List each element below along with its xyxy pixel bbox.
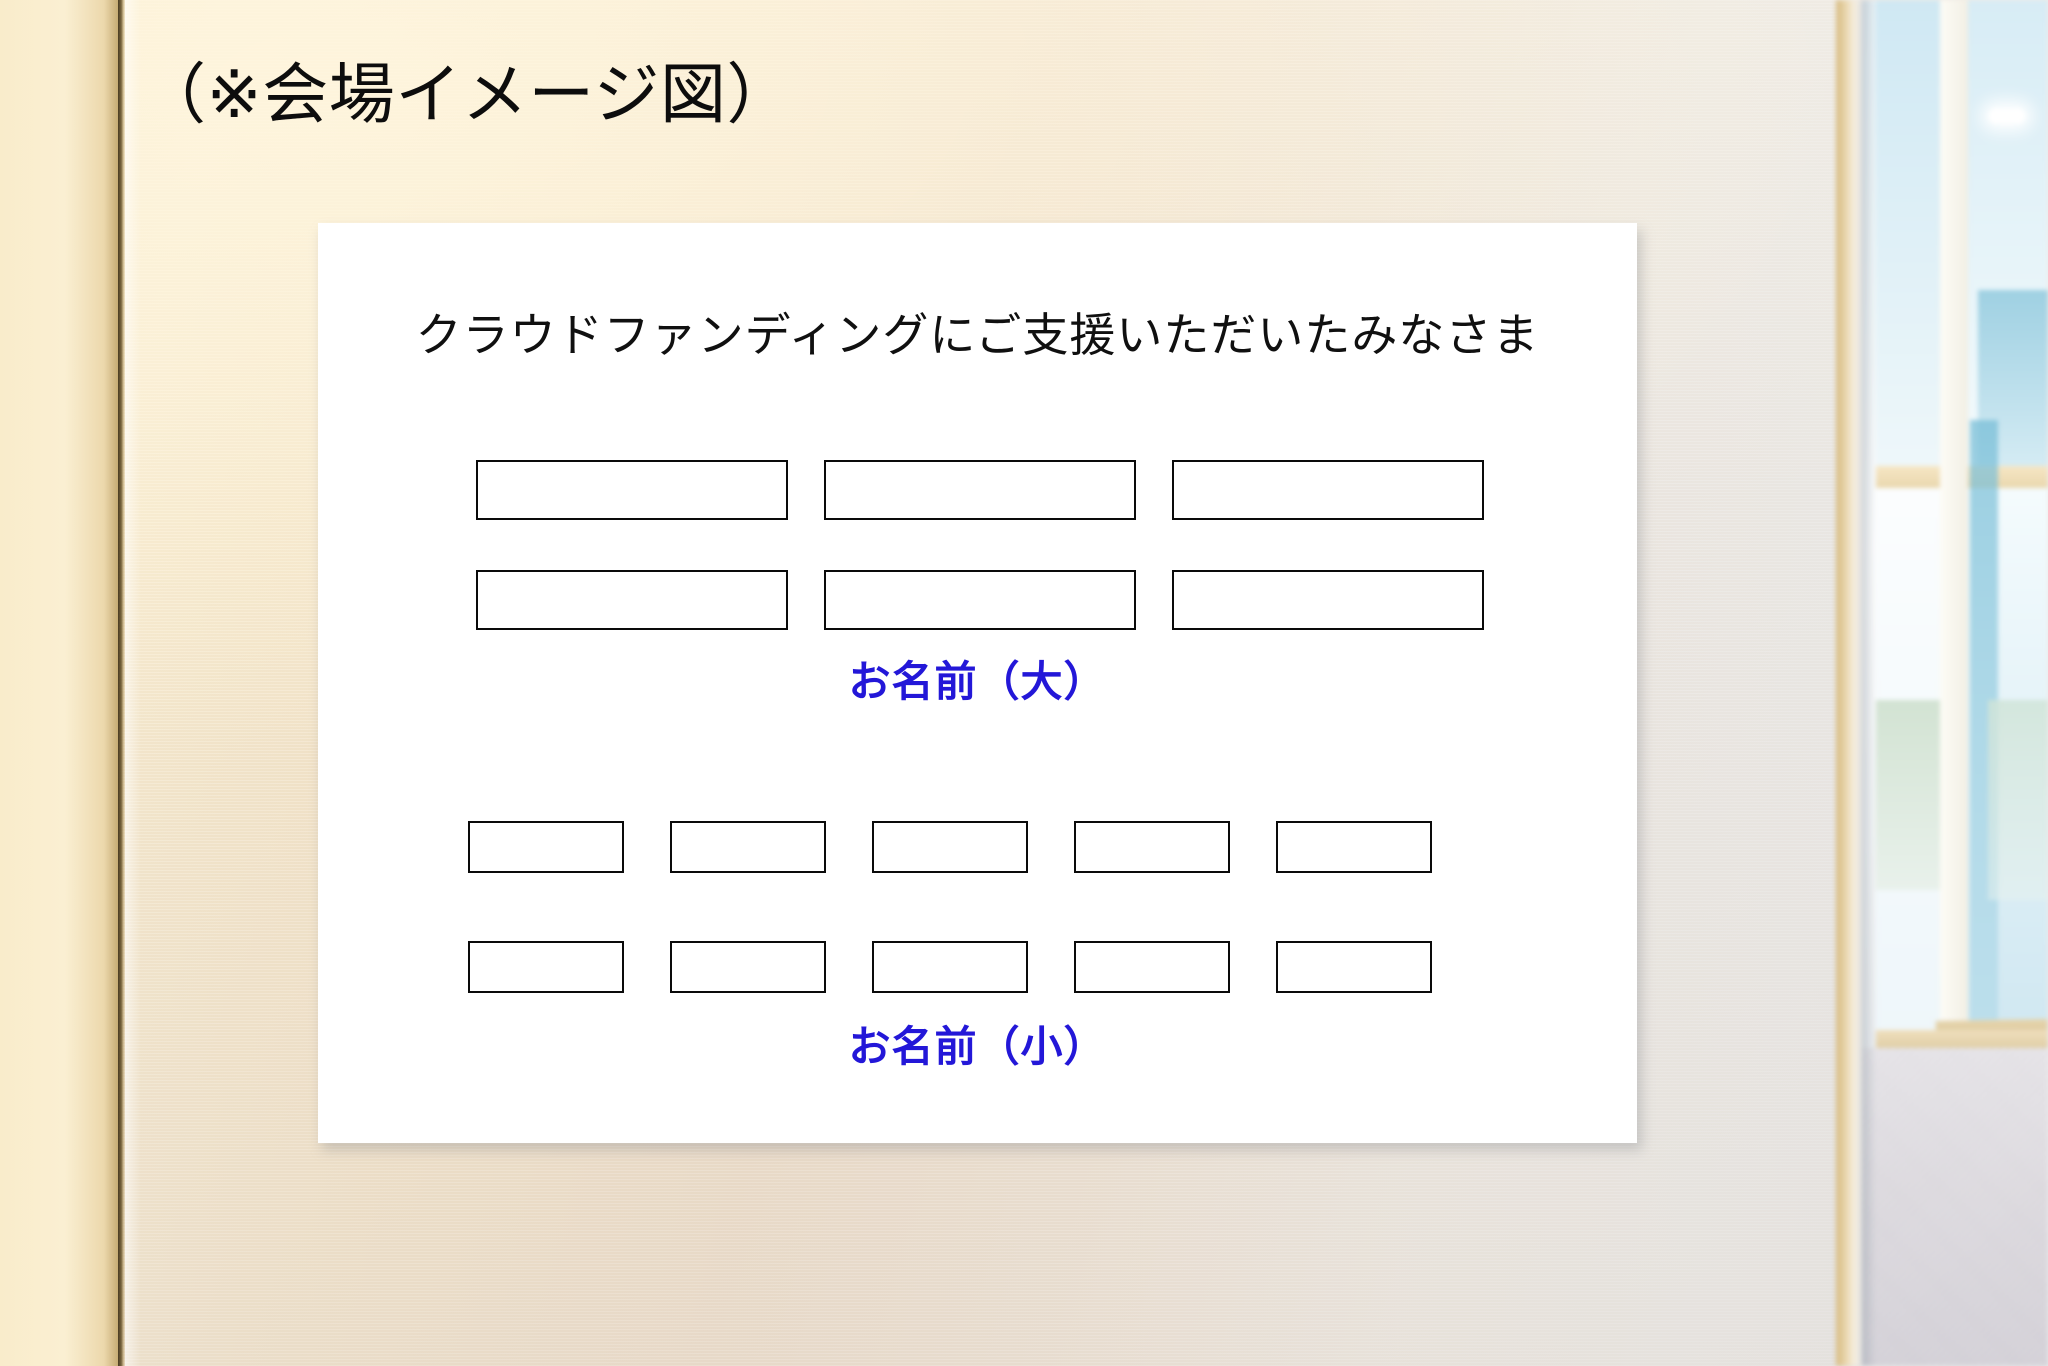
name-box-row-large-2: [476, 570, 1486, 630]
section-label-large-names: お名前（大）: [318, 648, 1637, 709]
wall-seam-line: [118, 0, 125, 1366]
name-box-small[interactable]: [1074, 941, 1230, 993]
name-box-small[interactable]: [468, 941, 624, 993]
name-box-small[interactable]: [1276, 941, 1432, 993]
green-wall-reflection-left: [1876, 700, 1940, 890]
name-box-large[interactable]: [476, 570, 788, 630]
section-label-small-names: お名前（小）: [318, 1013, 1637, 1074]
window-jamb: [1836, 0, 1862, 1366]
name-box-small[interactable]: [872, 821, 1028, 873]
window-glass-area: [1836, 0, 2048, 1366]
wall-panel-left: [0, 0, 118, 1366]
green-wall-reflection-right: [1988, 700, 2048, 900]
name-box-large[interactable]: [1172, 570, 1484, 630]
name-box-large[interactable]: [824, 460, 1136, 520]
venue-image-poster: クラウドファンディングにご支援いただいたみなさま お名前（大） お名前（小）: [318, 223, 1637, 1143]
name-box-small[interactable]: [468, 821, 624, 873]
ceiling-light-reflection: [1988, 108, 2026, 124]
name-box-row-small-1: [468, 821, 1498, 873]
name-box-small[interactable]: [872, 941, 1028, 993]
name-box-large[interactable]: [476, 460, 788, 520]
name-box-large[interactable]: [1172, 460, 1484, 520]
name-box-small[interactable]: [1276, 821, 1432, 873]
carpet-texture: [1862, 1048, 2048, 1366]
poster-heading: クラウドファンディングにご支援いただいたみなさま: [318, 299, 1637, 365]
name-box-small[interactable]: [1074, 821, 1230, 873]
window-mullion-vertical: [1940, 0, 1968, 1020]
name-box-small[interactable]: [670, 941, 826, 993]
name-box-small[interactable]: [670, 821, 826, 873]
slide-title: （※会場イメージ図）: [140, 58, 793, 131]
name-box-row-large-1: [476, 460, 1486, 520]
wall-seam-highlight: [125, 0, 141, 1366]
name-box-row-small-2: [468, 941, 1498, 993]
window-jamb-shadow: [1862, 0, 1876, 1366]
name-box-large[interactable]: [824, 570, 1136, 630]
